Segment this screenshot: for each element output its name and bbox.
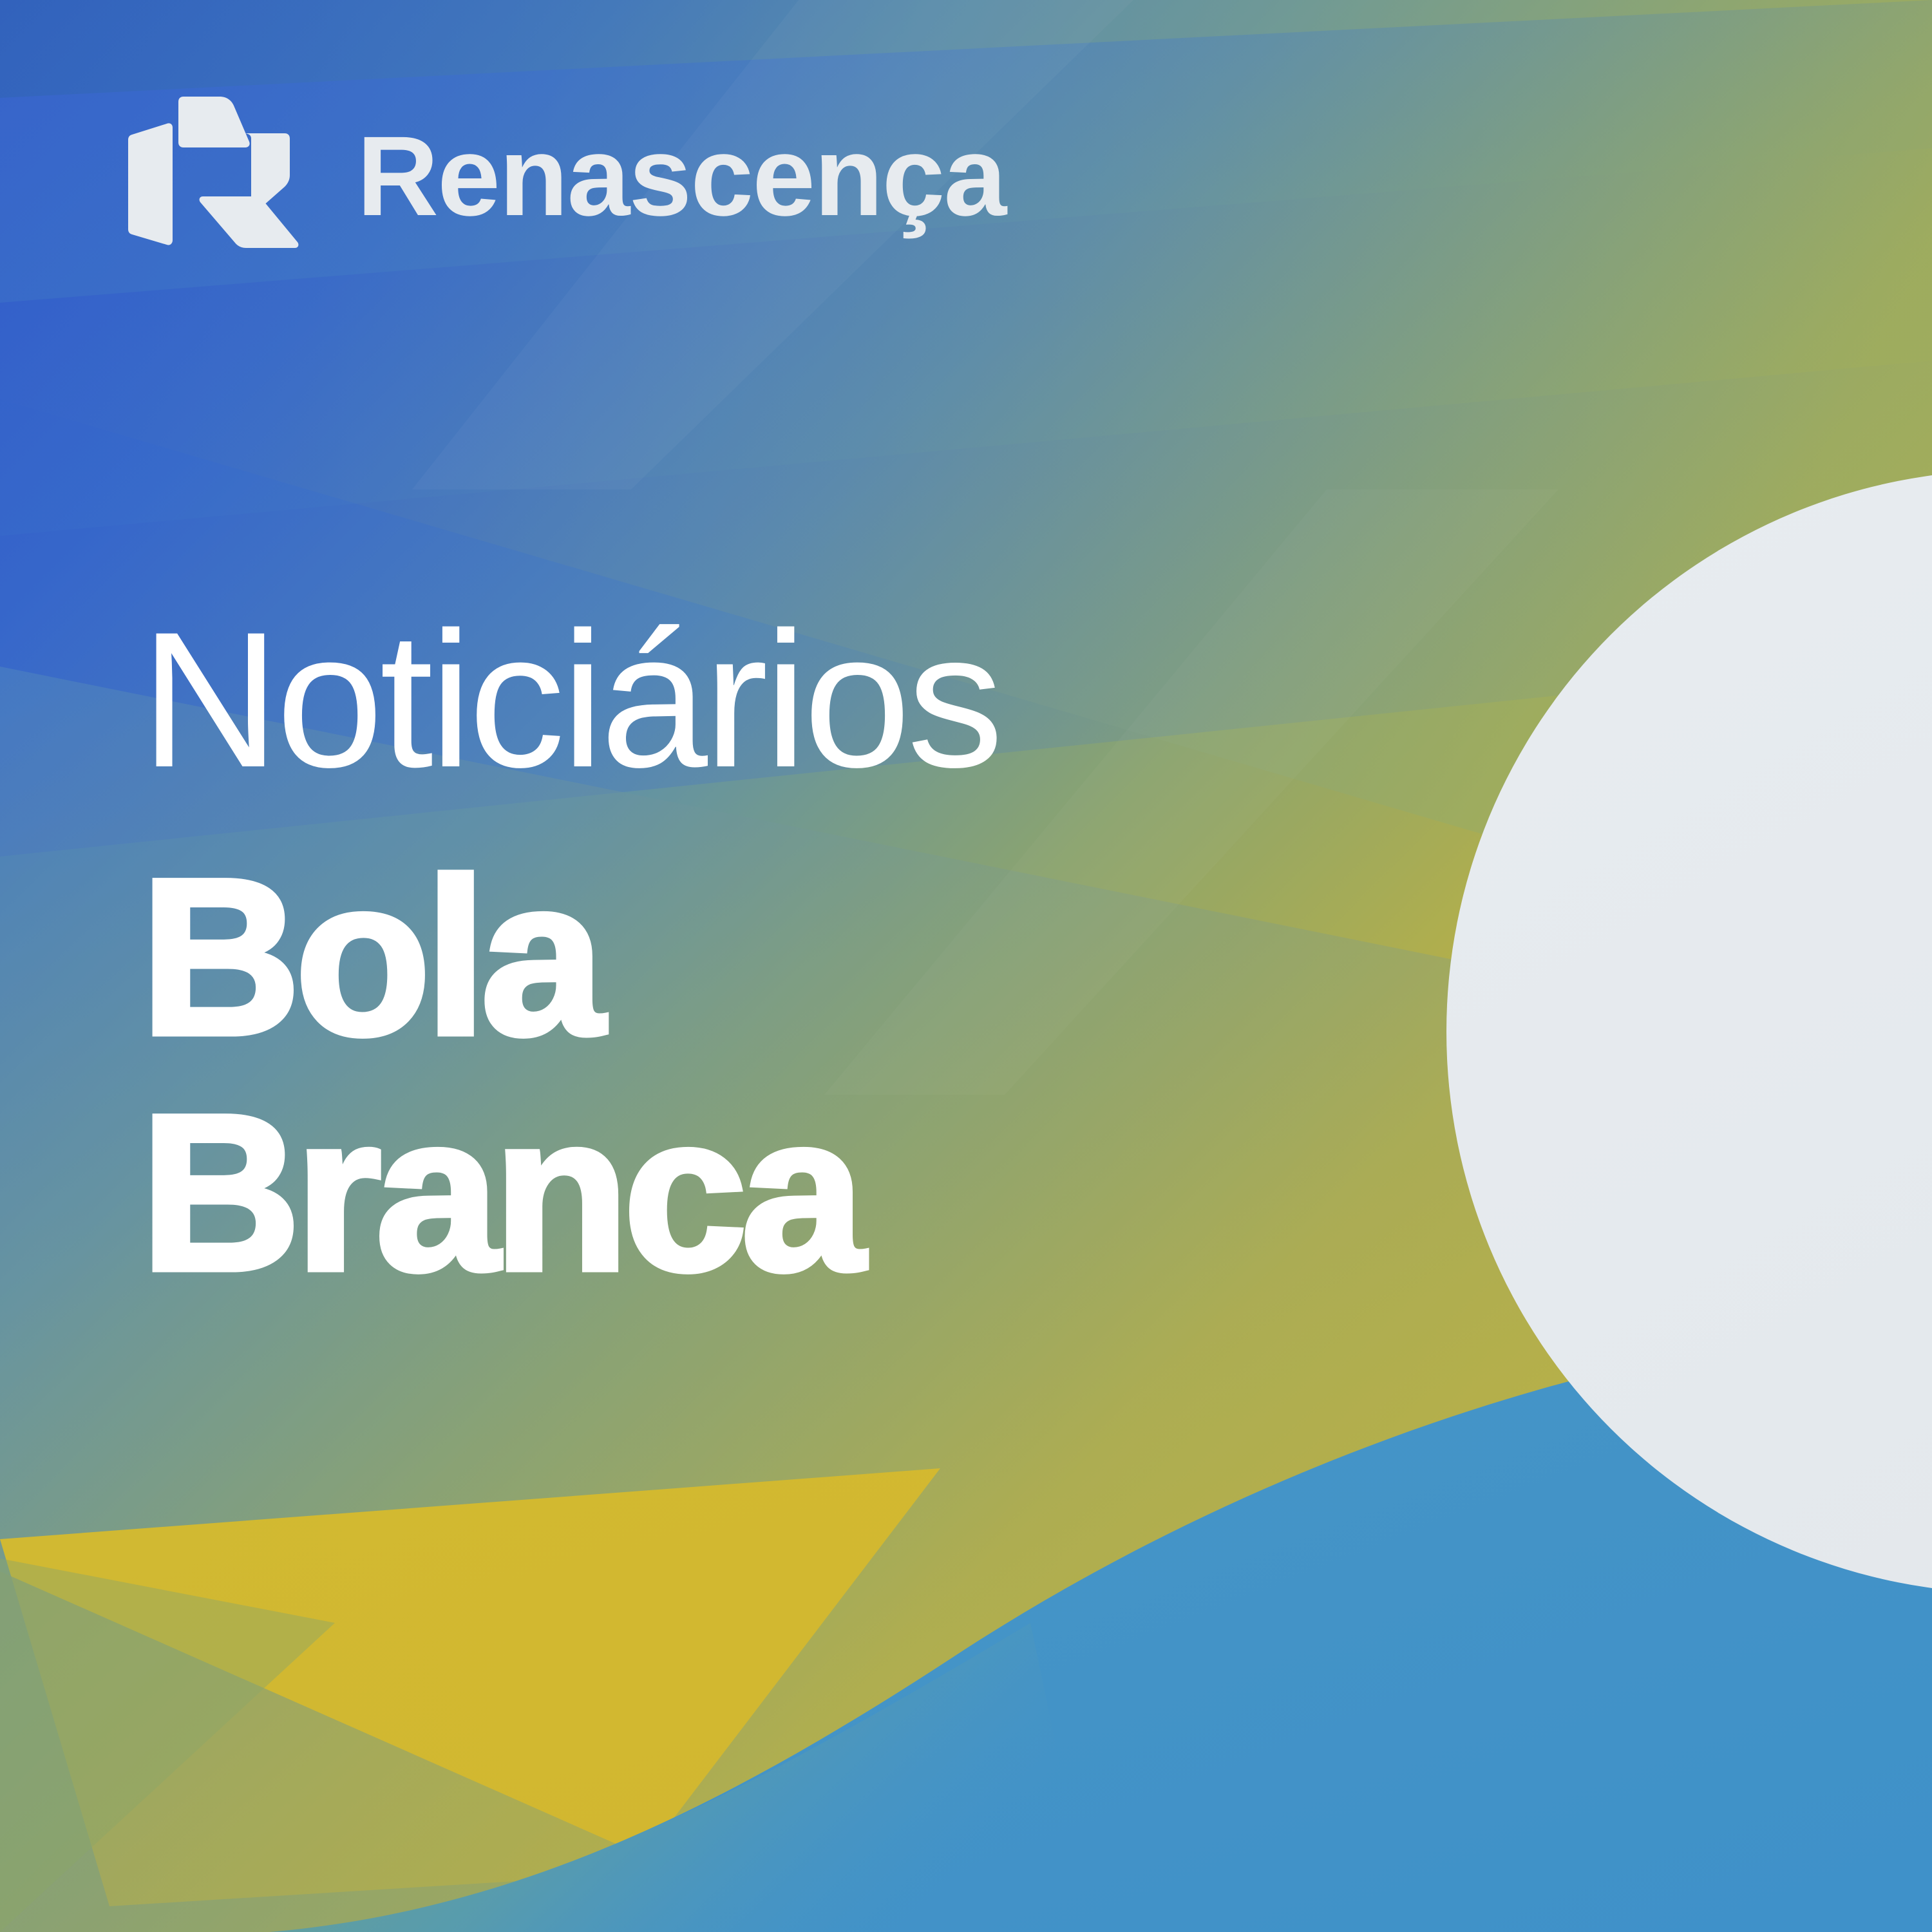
title-block: Noticiários Bola Branca	[140, 599, 1428, 1311]
show-title-line-2: Branca	[140, 1075, 1428, 1311]
brand-bar: Renascença	[126, 90, 1005, 258]
show-title: Bola Branca	[140, 840, 1428, 1311]
renascenca-r-monogram-icon	[126, 92, 300, 256]
kicker-text: Noticiários	[140, 599, 1428, 800]
podcast-cover-art: Renascença Noticiários Bola Branca	[0, 0, 1932, 1932]
renascenca-wordmark: Renascença	[357, 120, 1005, 233]
show-title-line-1: Bola	[140, 840, 1428, 1075]
